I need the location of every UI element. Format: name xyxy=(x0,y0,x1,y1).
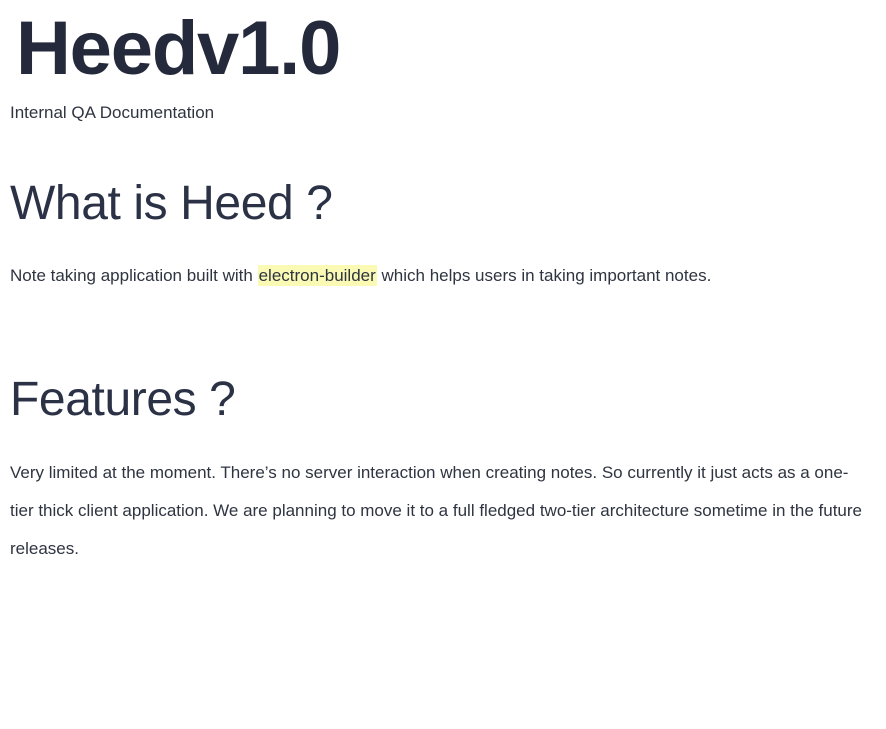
paragraph-text-features: Very limited at the moment. There’s no s… xyxy=(10,463,862,558)
paragraph-text-lead: Note taking application built with xyxy=(10,266,258,285)
document-page: Heedv1.0 Internal QA Documentation What … xyxy=(0,0,886,729)
section-paragraph-what-is-heed: Note taking application built with elect… xyxy=(10,257,872,295)
section-features: Features ? Very limited at the moment. T… xyxy=(10,373,874,568)
section-heading-features: Features ? xyxy=(10,373,874,427)
paragraph-text-trail: which helps users in taking important no… xyxy=(377,266,712,285)
section-heading-what-is-heed: What is Heed ? xyxy=(10,177,874,231)
section-paragraph-features: Very limited at the moment. There’s no s… xyxy=(10,454,872,568)
highlighted-term-electron-builder: electron-builder xyxy=(258,265,377,286)
section-what-is-heed: What is Heed ? Note taking application b… xyxy=(10,177,874,296)
document-masthead: Heedv1.0 Internal QA Documentation xyxy=(10,0,874,125)
document-title: Heedv1.0 xyxy=(10,4,874,94)
document-subtitle: Internal QA Documentation xyxy=(10,102,874,125)
